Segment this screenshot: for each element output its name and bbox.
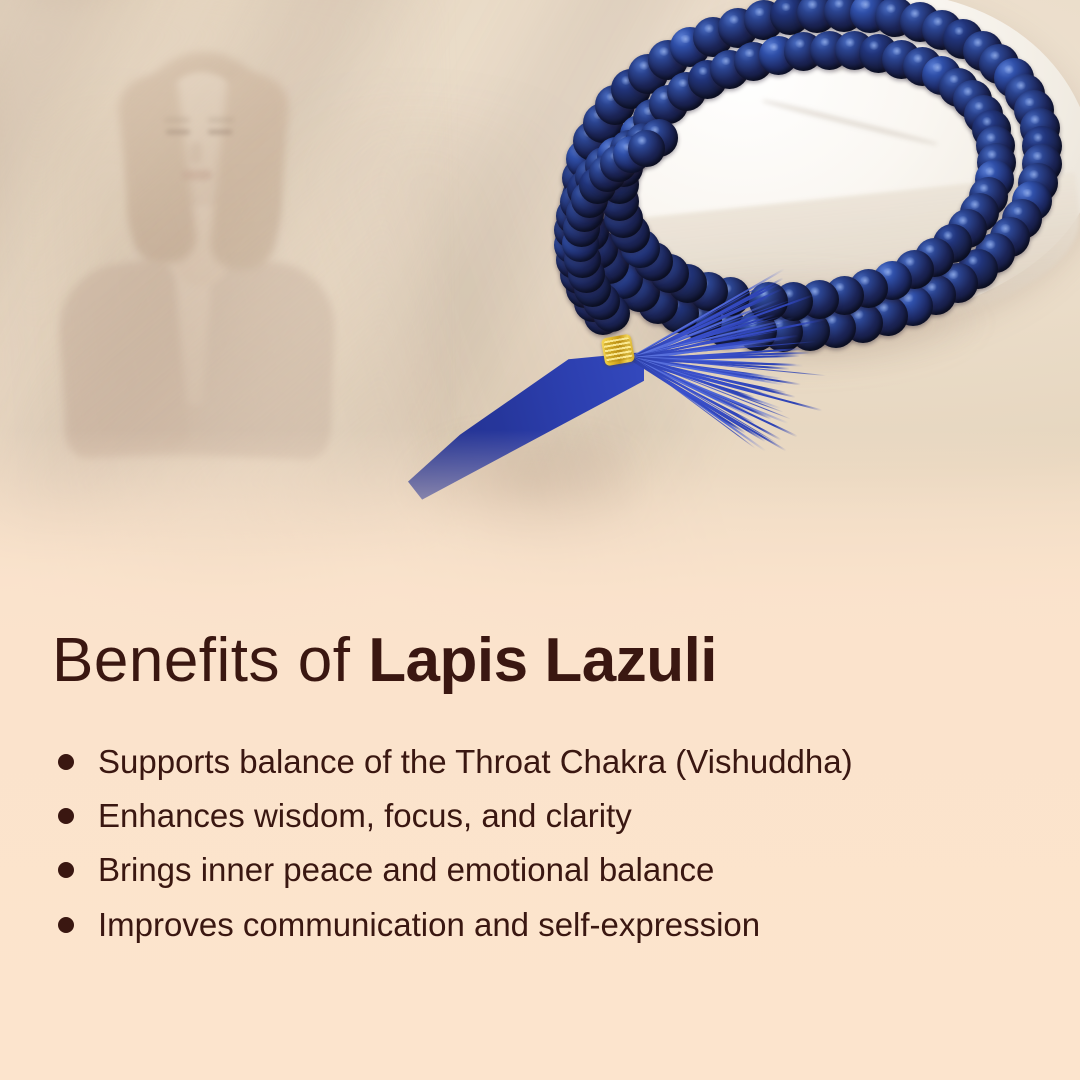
bullet-dot-icon <box>58 862 74 878</box>
bullet-dot-icon <box>58 808 74 824</box>
page-title: Benefits of Lapis Lazuli <box>52 630 717 692</box>
benefit-item: Improves communication and self-expressi… <box>52 903 1032 947</box>
gold-tassel-cap-icon <box>601 334 635 367</box>
benefit-item: Enhances wisdom, focus, and clarity <box>52 794 1032 838</box>
lapis-lazuli-benefits-graphic: Benefits of Lapis Lazuli Supports balanc… <box>0 0 1080 1080</box>
benefit-label: Enhances wisdom, focus, and clarity <box>98 797 632 834</box>
benefits-list: Supports balance of the Throat Chakra (V… <box>52 740 1032 957</box>
product-photo <box>0 0 1080 660</box>
title-light-part: Benefits of <box>52 626 368 695</box>
benefit-label: Improves communication and self-expressi… <box>98 906 760 943</box>
title-bold-part: Lapis Lazuli <box>368 626 717 695</box>
benefit-label: Supports balance of the Throat Chakra (V… <box>98 743 853 780</box>
benefit-label: Brings inner peace and emotional balance <box>98 851 714 888</box>
mala-bead <box>628 130 665 167</box>
benefits-panel: Benefits of Lapis Lazuli Supports balanc… <box>0 600 1080 1080</box>
bullet-dot-icon <box>58 754 74 770</box>
benefit-item: Brings inner peace and emotional balance <box>52 848 1032 892</box>
benefit-item: Supports balance of the Throat Chakra (V… <box>52 740 1032 784</box>
bullet-dot-icon <box>58 917 74 933</box>
